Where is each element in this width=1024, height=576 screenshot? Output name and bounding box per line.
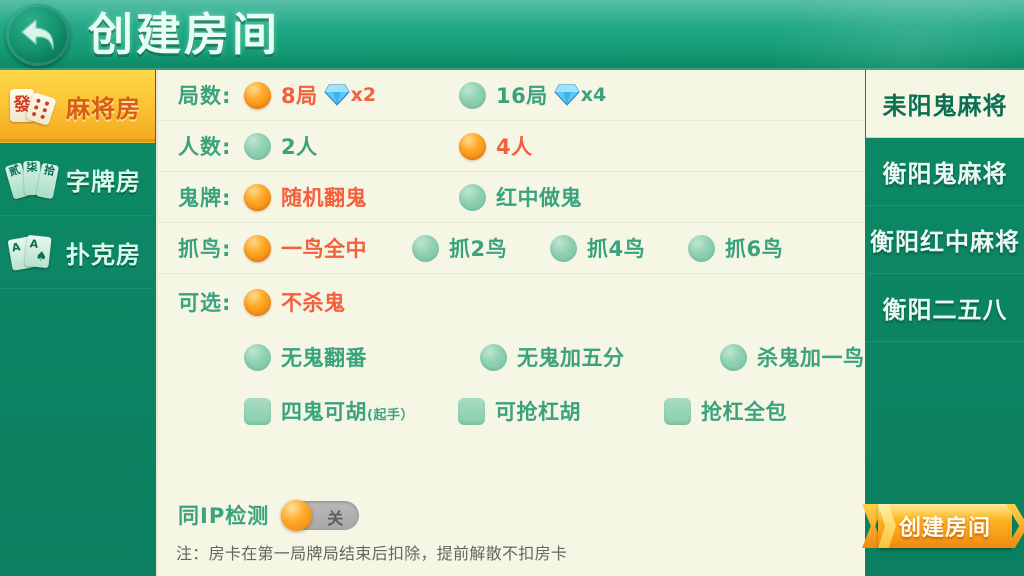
game-item-hengyang-gui[interactable]: 衡阳鬼麻将 <box>866 138 1024 206</box>
game-list-panel: 耒阳鬼麻将 衡阳鬼麻将 衡阳红中麻将 衡阳二五八 创建房间 <box>866 70 1024 576</box>
app-header: 创建房间 <box>0 0 1024 70</box>
option-rounds-16[interactable]: 16局 x4 <box>459 80 606 110</box>
option-rob-kong-win[interactable]: 可抢杠胡 <box>458 396 664 426</box>
option-row-optional: 可选: 不杀鬼 <box>156 274 865 330</box>
option-no-joker-plus5[interactable]: 无鬼加五分 <box>480 342 720 372</box>
row-label: 抓鸟: <box>178 233 244 263</box>
option-players-4[interactable]: 4人 <box>459 131 533 161</box>
back-button[interactable] <box>6 4 70 66</box>
checkbox-icon[interactable] <box>664 398 691 425</box>
radio-icon[interactable] <box>459 133 486 160</box>
option-label: 随机翻鬼 <box>281 182 367 212</box>
create-room-label: 创建房间 <box>862 504 1024 548</box>
page-title: 创建房间 <box>88 4 280 66</box>
ip-check-toggle[interactable]: 关 <box>281 501 359 530</box>
back-arrow-icon <box>18 16 58 54</box>
radio-icon[interactable] <box>720 344 747 371</box>
option-label: 4人 <box>496 131 533 161</box>
option-label: 可抢杠胡 <box>495 396 581 426</box>
sidebar-item-label: 麻将房 <box>66 89 141 124</box>
character-cards-icon: 贰 柒 拾 <box>8 156 58 202</box>
sidebar-item-poker[interactable]: A A ♠ 扑克房 <box>0 216 155 289</box>
option-rob-kong-full-pay[interactable]: 抢杠全包 <box>664 396 787 426</box>
option-label: 一鸟全中 <box>281 233 367 263</box>
options-panel: 局数: 8局 x2 16局 x4 <box>156 70 865 576</box>
option-label: 16局 <box>496 80 548 110</box>
checkbox-icon[interactable] <box>458 398 485 425</box>
radio-icon[interactable] <box>244 344 271 371</box>
radio-icon[interactable] <box>688 235 715 262</box>
radio-icon[interactable] <box>459 82 486 109</box>
row-label: 可选: <box>178 287 244 317</box>
game-item-hengyang-hongzhong[interactable]: 衡阳红中麻将 <box>866 206 1024 274</box>
option-four-joker-win[interactable]: 四鬼可胡(起手） <box>244 396 458 426</box>
create-room-screen: 创建房间 發 麻将房 贰 柒 拾 字牌房 <box>0 0 1024 576</box>
radio-icon[interactable] <box>412 235 439 262</box>
poker-cards-icon: A A ♠ <box>8 229 58 275</box>
diamond-icon <box>324 83 350 107</box>
option-rounds-8[interactable]: 8局 x2 <box>244 80 459 110</box>
option-players-2[interactable]: 2人 <box>244 131 459 161</box>
option-row-checkboxes: 四鬼可胡(起手） 可抢杠胡 抢杠全包 <box>156 384 865 438</box>
row-label: 鬼牌: <box>178 182 244 212</box>
multiplier-label: x4 <box>581 84 606 106</box>
option-row-players: 人数: 2人 4人 <box>156 121 865 172</box>
radio-icon[interactable] <box>480 344 507 371</box>
radio-icon[interactable] <box>244 235 271 262</box>
mahjong-tiles-icon: 發 <box>8 83 58 129</box>
option-label: 抓4鸟 <box>587 233 645 263</box>
option-row-rounds: 局数: 8局 x2 16局 x4 <box>156 70 865 121</box>
ip-check-row: 同IP检测 关 <box>178 500 359 530</box>
sidebar: 發 麻将房 贰 柒 拾 字牌房 A <box>0 70 155 576</box>
radio-icon[interactable] <box>244 82 271 109</box>
option-label-suffix: (起手） <box>367 408 414 423</box>
ip-check-label: 同IP检测 <box>178 500 269 530</box>
game-item-leiyang-gui[interactable]: 耒阳鬼麻将 <box>866 70 1024 138</box>
row-label: 人数: <box>178 131 244 161</box>
option-joker-random[interactable]: 随机翻鬼 <box>244 182 459 212</box>
radio-icon[interactable] <box>244 133 271 160</box>
option-label: 红中做鬼 <box>496 182 582 212</box>
toggle-state-label: 关 <box>327 505 343 529</box>
multiplier-label: x2 <box>351 84 376 106</box>
option-label: 无鬼加五分 <box>517 342 625 372</box>
option-kill-joker-plus-bird[interactable]: 杀鬼加一鸟 <box>720 342 865 372</box>
sidebar-item-label: 扑克房 <box>66 235 141 270</box>
create-room-button[interactable]: 创建房间 <box>862 504 1024 548</box>
radio-icon[interactable] <box>244 289 271 316</box>
option-label: 抓2鸟 <box>449 233 507 263</box>
option-bird-2[interactable]: 抓2鸟 <box>412 233 550 263</box>
option-label: 2人 <box>281 131 318 161</box>
option-no-joker-double[interactable]: 无鬼翻番 <box>244 342 480 372</box>
option-label: 无鬼翻番 <box>281 342 367 372</box>
option-row-extra-radios: 无鬼翻番 无鬼加五分 杀鬼加一鸟 <box>156 330 865 384</box>
game-item-hengyang-erwuba[interactable]: 衡阳二五八 <box>866 274 1024 342</box>
sidebar-item-character-cards[interactable]: 贰 柒 拾 字牌房 <box>0 143 155 216</box>
option-row-birds: 抓鸟: 一鸟全中 抓2鸟 抓4鸟 抓6鸟 <box>156 223 865 274</box>
row-label: 局数: <box>178 80 244 110</box>
option-label: 杀鬼加一鸟 <box>757 342 865 372</box>
option-label: 抓6鸟 <box>725 233 783 263</box>
radio-icon[interactable] <box>550 235 577 262</box>
sidebar-item-mahjong[interactable]: 發 麻将房 <box>0 70 155 143</box>
option-label: 四鬼可胡 <box>281 400 367 424</box>
radio-icon[interactable] <box>244 184 271 211</box>
diamond-icon <box>554 83 580 107</box>
option-label: 不杀鬼 <box>281 287 346 317</box>
option-no-kill-joker[interactable]: 不杀鬼 <box>244 287 346 317</box>
option-bird-all[interactable]: 一鸟全中 <box>244 233 412 263</box>
footer-note: 注：房卡在第一局牌局结束后扣除，提前解散不扣房卡 <box>176 540 567 564</box>
radio-icon[interactable] <box>459 184 486 211</box>
toggle-knob[interactable] <box>281 500 312 531</box>
option-joker-redcenter[interactable]: 红中做鬼 <box>459 182 582 212</box>
option-label: 抢杠全包 <box>701 396 787 426</box>
option-bird-6[interactable]: 抓6鸟 <box>688 233 783 263</box>
option-row-joker: 鬼牌: 随机翻鬼 红中做鬼 <box>156 172 865 223</box>
checkbox-icon[interactable] <box>244 398 271 425</box>
sidebar-item-label: 字牌房 <box>66 162 141 197</box>
option-bird-4[interactable]: 抓4鸟 <box>550 233 688 263</box>
option-label: 8局 <box>281 80 318 110</box>
